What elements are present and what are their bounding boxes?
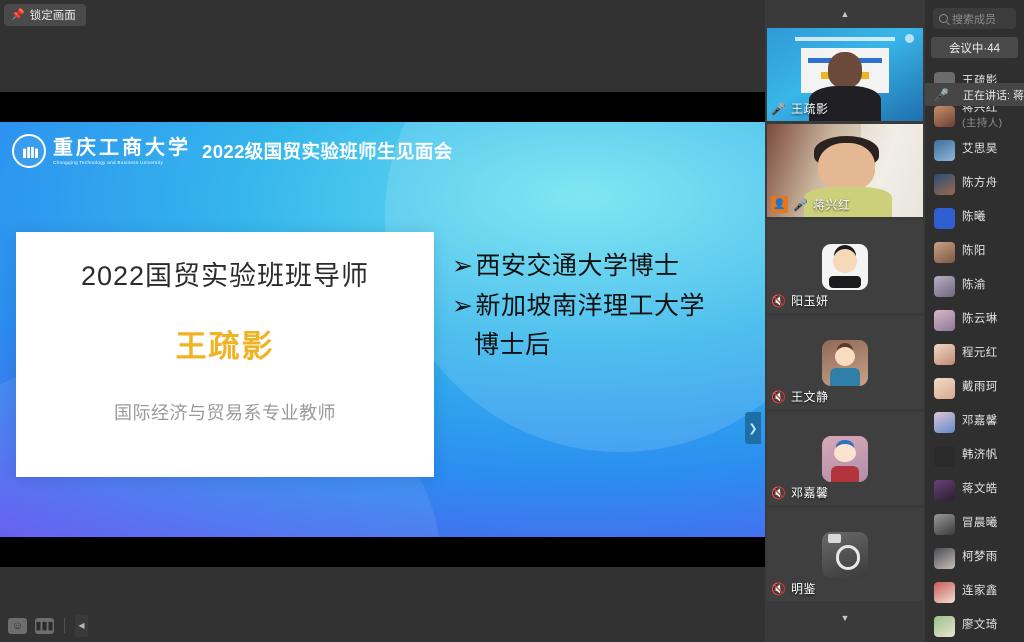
lock-screen-button[interactable]: 📌 锁定画面 [4, 4, 86, 26]
shared-screen-stage: 📌 锁定画面 重庆工商大学 Chongqing Technology and B… [0, 0, 765, 642]
participant-row[interactable]: 廖文琦 [925, 609, 1024, 642]
avatar [934, 344, 955, 365]
tile-name: 邓嘉馨 [791, 484, 829, 501]
video-tile-wangwenjing[interactable]: 🔇 王文静 [767, 316, 923, 409]
participant-row[interactable]: 邓嘉馨 [925, 405, 1024, 439]
university-name-cn: 重庆工商大学 [53, 138, 191, 158]
participant-row[interactable]: 蒋文皓 [925, 473, 1024, 507]
avatar [934, 310, 955, 331]
participant-name: 艾思昊 [962, 143, 998, 156]
slide-header: 重庆工商大学 Chongqing Technology and Business… [12, 134, 765, 168]
microphone-muted-icon: 🔇 [771, 487, 786, 499]
participant-name: 邓嘉馨 [962, 415, 998, 428]
participant-name: 冒晨曦 [962, 517, 998, 530]
toolbar-divider [64, 618, 65, 633]
video-filmstrip: ▲ 🎤 王疏影 👤 🎤 蒋兴红 [765, 0, 925, 642]
tile-name: 明鉴 [791, 580, 816, 597]
speaking-tooltip-text: 正在讲话: 蒋 [963, 87, 1024, 103]
participant-list[interactable]: 王疏影蒋兴红(主持人)艾思昊陈方舟陈曦陈阳陈渝陈云琳程元红戴雨珂邓嘉馨韩济帆蒋文… [925, 65, 1024, 642]
tile-name: 蒋兴红 [813, 196, 851, 213]
participant-row[interactable]: 韩济帆 [925, 439, 1024, 473]
participant-name: 陈曦 [962, 211, 986, 224]
participant-name: 陈云琳 [962, 313, 998, 326]
bullet-item: ➢ 新加坡南洋理工大学 [452, 287, 752, 327]
participant-name: 廖文琦 [962, 619, 998, 632]
participant-name: 陈方舟 [962, 177, 998, 190]
feed-logo-icon [905, 34, 914, 43]
tile-badges: 🔇 明鉴 [771, 580, 816, 597]
lock-screen-label: 锁定画面 [30, 7, 76, 23]
video-tile-mingjian[interactable]: 🔇 明鉴 [767, 508, 923, 601]
avatar [822, 436, 868, 482]
participant-name: 戴雨珂 [962, 381, 998, 394]
video-tile-dengjiaxin[interactable]: 🔇 邓嘉馨 [767, 412, 923, 505]
participant-row[interactable]: 程元红 [925, 337, 1024, 371]
avatar [934, 446, 955, 467]
bullet-item: ➢ 西安交通大学博士 [452, 247, 752, 287]
tab-in-meeting[interactable]: 会议中·44 [931, 37, 1018, 58]
host-badge-icon: 👤 [771, 196, 788, 213]
bullet-text: 新加坡南洋理工大学 [475, 287, 705, 327]
participant-row[interactable]: 连家鑫 [925, 575, 1024, 609]
meeting-window: 📌 锁定画面 重庆工商大学 Chongqing Technology and B… [0, 0, 1024, 642]
participant-name: 陈渝 [962, 279, 986, 292]
search-icon [939, 14, 948, 23]
microphone-icon: 🎤 [934, 88, 949, 102]
participant-role: (主持人) [962, 115, 1003, 130]
microphone-muted-icon: 🔇 [771, 295, 786, 307]
participants-panel: 搜索成员 会议中·44 王疏影蒋兴红(主持人)艾思昊陈方舟陈曦陈阳陈渝陈云琳程元… [925, 0, 1024, 642]
chevron-right-icon[interactable]: ❯ [745, 412, 761, 444]
tile-badges: 👤 🎤 蒋兴红 [771, 196, 850, 213]
chevron-down-icon[interactable]: ▼ [765, 604, 925, 632]
video-tile-jiangxinghong[interactable]: 👤 🎤 蒋兴红 [767, 124, 923, 217]
microphone-muted-icon: 🔇 [771, 583, 786, 595]
tile-name: 王疏影 [791, 100, 829, 117]
tile-name: 王文静 [791, 388, 829, 405]
tile-badges: 🔇 阳玉妍 [771, 292, 828, 309]
participant-row[interactable]: 戴雨珂 [925, 371, 1024, 405]
avatar [934, 582, 955, 603]
participant-name: 蒋文皓 [962, 483, 998, 496]
stage-toolbar: ☺ ▮▮▮ ◀ [0, 609, 765, 642]
avatar [934, 242, 955, 263]
bullet-marker-icon: ➢ [452, 287, 473, 327]
chevron-up-icon[interactable]: ▲ [765, 0, 925, 28]
bullet-text-continued: 博士后 [474, 326, 752, 366]
tile-badges: 🔇 王文静 [771, 388, 828, 405]
instructor-name: 王疏影 [176, 321, 275, 366]
avatar [934, 412, 955, 433]
instructor-role: 2022国贸实验班班导师 [81, 254, 369, 293]
tab-in-meeting-label: 会议中·44 [949, 40, 1000, 56]
participant-row[interactable]: 陈云琳 [925, 303, 1024, 337]
avatar [934, 548, 955, 569]
avatar [822, 340, 868, 386]
avatar [822, 244, 868, 290]
microphone-muted-icon: 🔇 [771, 391, 786, 403]
tile-badges: 🎤 王疏影 [771, 100, 828, 117]
chat-bubble-icon[interactable]: ▮▮▮ [35, 618, 54, 634]
participant-name: 陈阳 [962, 245, 986, 258]
video-tile-wangshuying[interactable]: 🎤 王疏影 [767, 28, 923, 121]
slide-canvas: 重庆工商大学 Chongqing Technology and Business… [0, 122, 765, 537]
participant-row[interactable]: 陈曦 [925, 201, 1024, 235]
speaking-tooltip: 🎤 正在讲话: 蒋 [925, 83, 1024, 106]
avatar [934, 106, 955, 127]
participant-row[interactable]: 陈方舟 [925, 167, 1024, 201]
microphone-icon: 🎤 [771, 103, 786, 115]
search-input[interactable]: 搜索成员 [933, 8, 1016, 29]
university-crest-icon [12, 134, 46, 168]
avatar [934, 208, 955, 229]
emoji-icon[interactable]: ☺ [8, 618, 27, 634]
instructor-card: 2022国贸实验班班导师 王疏影 国际经济与贸易系专业教师 [16, 232, 434, 477]
participant-row[interactable]: 冒晨曦 [925, 507, 1024, 541]
avatar [822, 532, 868, 578]
university-name-en: Chongqing Technology and Business Univer… [53, 160, 191, 165]
participant-name: 连家鑫 [962, 585, 998, 598]
slide-title: 2022级国贸实验班师生见面会 [202, 138, 453, 164]
tile-name: 阳玉妍 [791, 292, 829, 309]
chevron-left-icon[interactable]: ◀ [75, 615, 88, 637]
pin-icon: 📌 [11, 10, 25, 21]
instructor-department: 国际经济与贸易系专业教师 [114, 399, 336, 425]
avatar [934, 616, 955, 637]
participant-name: 程元红 [962, 347, 998, 360]
participant-row[interactable]: 柯梦雨 [925, 541, 1024, 575]
avatar [934, 480, 955, 501]
credential-bullets: ➢ 西安交通大学博士 ➢ 新加坡南洋理工大学 博士后 [452, 247, 752, 366]
participant-row[interactable]: 陈渝 [925, 269, 1024, 303]
microphone-icon: 🎤 [793, 199, 808, 211]
bullet-text: 西安交通大学博士 [475, 247, 679, 287]
participant-name: 柯梦雨 [962, 551, 998, 564]
bullet-marker-icon: ➢ [452, 247, 473, 287]
avatar [934, 140, 955, 161]
presentation-slide[interactable]: 重庆工商大学 Chongqing Technology and Business… [0, 92, 765, 567]
avatar [934, 174, 955, 195]
participant-row[interactable]: 陈阳 [925, 235, 1024, 269]
avatar [934, 276, 955, 297]
search-placeholder: 搜索成员 [952, 11, 996, 27]
participant-row[interactable]: 艾思昊 [925, 133, 1024, 167]
participant-name: 韩济帆 [962, 449, 998, 462]
tile-badges: 🔇 邓嘉馨 [771, 484, 828, 501]
avatar [934, 378, 955, 399]
video-tile-yangyuyan[interactable]: 🔇 阳玉妍 [767, 220, 923, 313]
avatar [934, 514, 955, 535]
